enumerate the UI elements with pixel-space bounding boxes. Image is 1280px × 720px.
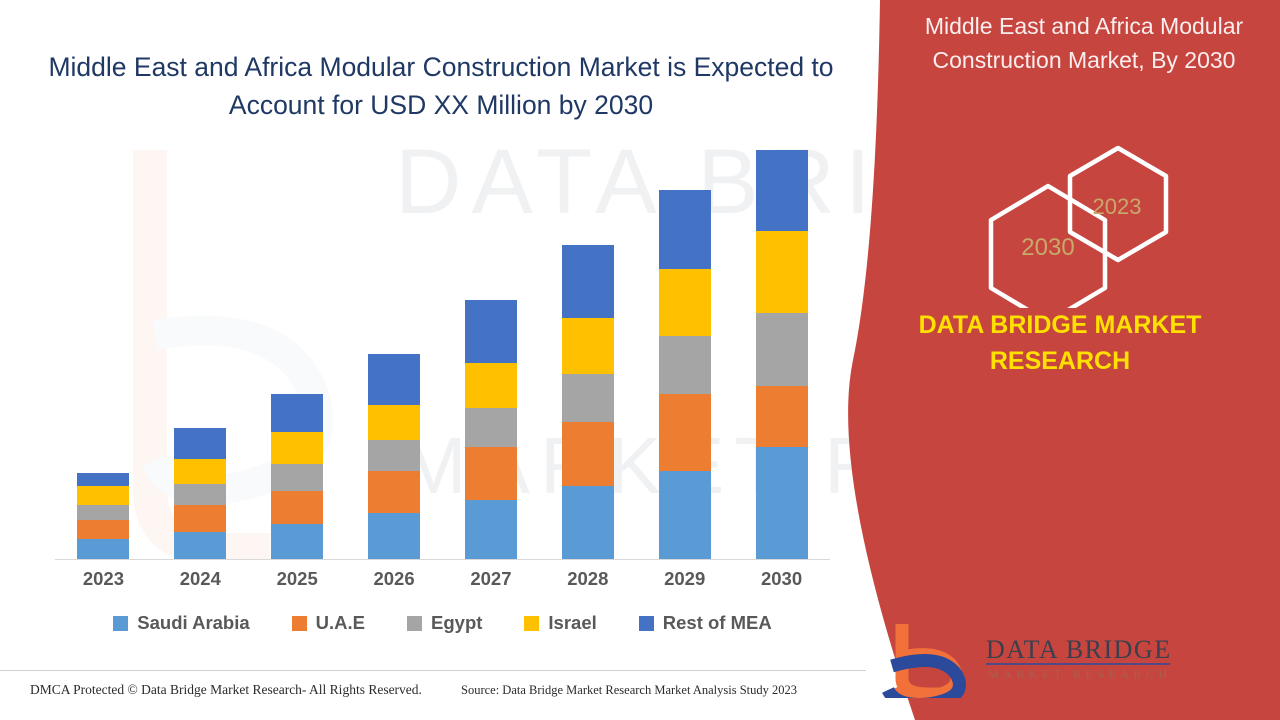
brand-name: DATA BRIDGE MARKET RESEARCH: [890, 308, 1230, 379]
legend-label: Rest of MEA: [663, 612, 772, 634]
x-tick-2023: 2023: [58, 568, 148, 590]
footer-divider: [0, 670, 866, 671]
copyright-notice: DMCA Protected © Data Bridge Market Rese…: [30, 682, 422, 698]
bar-2024: [174, 428, 226, 559]
logo-graphic: DATA BRIDGE MARKET RESEARCH: [880, 616, 1180, 698]
bar-segment: [465, 363, 517, 408]
x-axis-tick-labels: 20232024202520262027202820292030: [55, 568, 830, 596]
bar-segment: [271, 394, 323, 433]
svg-text:MARKET RESEARCH: MARKET RESEARCH: [988, 667, 1172, 681]
legend-swatch: [524, 616, 539, 631]
legend-label: Egypt: [431, 612, 482, 634]
bar-segment: [368, 405, 420, 440]
bar-segment: [77, 539, 129, 559]
legend-item: Rest of MEA: [639, 612, 772, 634]
bar-2027: [465, 300, 517, 559]
brand-panel: Middle East and Africa Modular Construct…: [820, 0, 1280, 720]
x-tick-2025: 2025: [252, 568, 342, 590]
hexagon-label-end: 2030: [998, 234, 1098, 262]
bar-segment: [174, 532, 226, 559]
bar-segment: [77, 505, 129, 520]
legend-item: U.A.E: [292, 612, 365, 634]
bar-segment: [562, 486, 614, 559]
bar-segment: [659, 471, 711, 559]
bar-segment: [465, 300, 517, 363]
bar-segment: [174, 505, 226, 531]
hexagon-badges: 2023 2030: [970, 138, 1230, 308]
bar-segment: [756, 386, 808, 447]
bar-segment: [756, 313, 808, 386]
legend-item: Egypt: [407, 612, 482, 634]
bar-segment: [368, 354, 420, 404]
chart-plot-area: [55, 150, 830, 560]
bar-segment: [659, 269, 711, 336]
bar-2025: [271, 394, 323, 559]
bar-segment: [659, 336, 711, 394]
chart-legend: Saudi ArabiaU.A.EEgyptIsraelRest of MEA: [55, 612, 830, 634]
hexagon-label-start: 2023: [1074, 194, 1160, 220]
bar-segment: [271, 432, 323, 464]
bar-segment: [562, 245, 614, 318]
legend-label: Saudi Arabia: [137, 612, 249, 634]
bar-segment: [756, 231, 808, 313]
bar-segment: [77, 473, 129, 486]
bar-segment: [562, 422, 614, 486]
bar-segment: [562, 374, 614, 422]
x-tick-2028: 2028: [543, 568, 633, 590]
bar-segment: [77, 486, 129, 505]
bar-segment: [659, 190, 711, 269]
bar-segment: [756, 150, 808, 231]
panel-title: Middle East and Africa Modular Construct…: [896, 10, 1272, 78]
legend-item: Israel: [524, 612, 596, 634]
bar-segment: [174, 484, 226, 505]
x-tick-2030: 2030: [737, 568, 827, 590]
legend-item: Saudi Arabia: [113, 612, 249, 634]
source-note: Source: Data Bridge Market Research Mark…: [461, 683, 797, 698]
bar-segment: [174, 459, 226, 484]
data-bridge-logo: DATA BRIDGE MARKET RESEARCH: [880, 616, 1180, 698]
page-title: Middle East and Africa Modular Construct…: [46, 48, 836, 125]
hexagon-outlines: [970, 138, 1230, 308]
bar-segment: [465, 408, 517, 447]
bar-segment: [368, 440, 420, 471]
x-tick-2026: 2026: [349, 568, 439, 590]
bar-segment: [562, 318, 614, 374]
bar-segment: [756, 447, 808, 559]
bar-2026: [368, 354, 420, 559]
x-tick-2027: 2027: [446, 568, 536, 590]
infographic-page: DATA BRIDGE MARKET RESEARCH Middle East …: [0, 0, 1280, 720]
bar-segment: [271, 524, 323, 559]
bar-segment: [271, 464, 323, 490]
bar-segment: [465, 447, 517, 500]
legend-label: U.A.E: [316, 612, 365, 634]
bar-segment: [77, 520, 129, 539]
legend-swatch: [292, 616, 307, 631]
bar-segment: [659, 394, 711, 471]
x-tick-2029: 2029: [640, 568, 730, 590]
bar-2029: [659, 190, 711, 559]
bar-segment: [465, 500, 517, 559]
bar-segment: [271, 491, 323, 524]
bar-segment: [368, 513, 420, 559]
bar-2023: [77, 473, 129, 559]
bar-2030: [756, 150, 808, 559]
legend-swatch: [407, 616, 422, 631]
svg-text:DATA BRIDGE: DATA BRIDGE: [986, 635, 1172, 664]
bar-segment: [174, 428, 226, 459]
x-axis-line: [55, 559, 830, 560]
legend-swatch: [639, 616, 654, 631]
legend-swatch: [113, 616, 128, 631]
stacked-bar-chart: [55, 150, 830, 560]
x-tick-2024: 2024: [155, 568, 245, 590]
bar-segment: [368, 471, 420, 513]
bar-2028: [562, 245, 614, 559]
legend-label: Israel: [548, 612, 596, 634]
